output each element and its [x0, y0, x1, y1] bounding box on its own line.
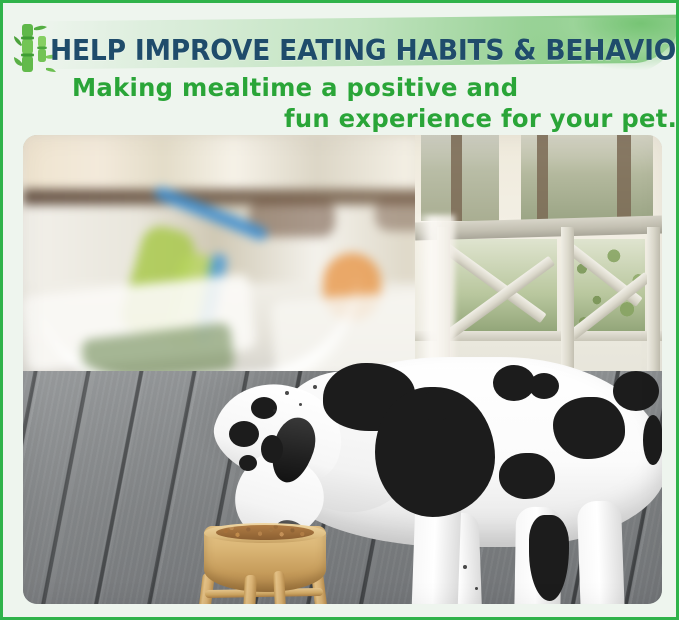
great-dane-dog [23, 135, 662, 604]
page-title: HELP IMPROVE EATING HABITS & BEHAVIOR [50, 30, 631, 72]
bamboo-bowl-stand [199, 521, 331, 604]
subtitle-line-1: Making mealtime a positive and [72, 72, 518, 103]
subtitle-line-2: fun experience for your pet. [284, 103, 677, 134]
kibble-food [216, 525, 314, 540]
header-banner: HELP IMPROVE EATING HABITS & BEHAVIOR Ma… [6, 6, 679, 135]
product-lifestyle-photo [23, 135, 662, 604]
promo-card: HELP IMPROVE EATING HABITS & BEHAVIOR Ma… [0, 0, 679, 620]
